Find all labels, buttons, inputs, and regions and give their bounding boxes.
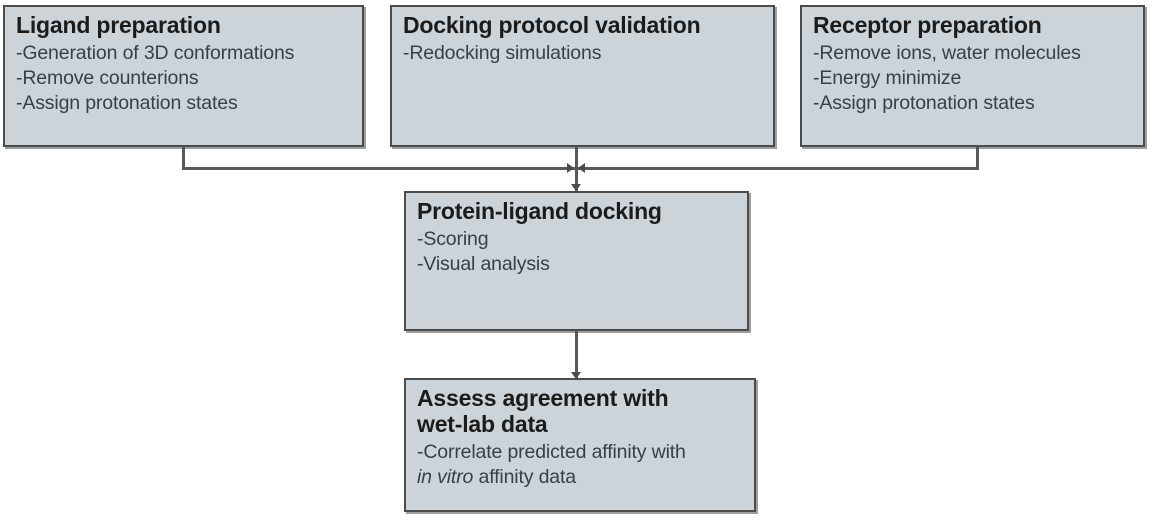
node-bullet: -Correlate predicted affinity with <box>417 440 745 465</box>
node-receptor-preparation[interactable]: Receptor preparation -Remove ions, water… <box>800 5 1145 147</box>
node-title: Receptor preparation <box>813 13 1134 39</box>
italic-term: in vitro <box>417 466 473 488</box>
node-protein-ligand-docking[interactable]: Protein-ligand docking -Scoring -Visual … <box>404 191 749 331</box>
node-bullet: -Assign protonation states <box>813 91 1134 116</box>
node-bullet: -Assign protonation states <box>16 91 353 116</box>
node-bullet: -Remove counterions <box>16 66 353 91</box>
edge-docking-to-assess <box>575 330 578 378</box>
node-title: Ligand preparation <box>16 13 353 39</box>
node-bullet: -Redocking simulations <box>403 41 764 66</box>
italic-line-rest: affinity data <box>473 466 576 488</box>
node-title: Docking protocol validation <box>403 13 764 39</box>
node-bullet: -Remove ions, water molecules <box>813 41 1134 66</box>
node-bullet: -Visual analysis <box>417 252 738 277</box>
node-bullet: -Energy minimize <box>813 66 1134 91</box>
node-title: Protein-ligand docking <box>417 199 738 225</box>
arrow-bus-right-marker <box>567 163 574 173</box>
node-bullet: -Generation of 3D conformations <box>16 41 353 66</box>
arrowhead-into-docking <box>571 184 581 191</box>
node-bullet-italic-line: in vitro affinity data <box>417 465 745 490</box>
arrow-bus-left-marker <box>578 163 585 173</box>
node-assess-agreement[interactable]: Assess agreement with wet-lab data -Corr… <box>404 378 756 512</box>
node-bullet: -Scoring <box>417 227 738 252</box>
node-ligand-preparation[interactable]: Ligand preparation -Generation of 3D con… <box>3 5 364 147</box>
node-docking-protocol-validation[interactable]: Docking protocol validation -Redocking s… <box>390 5 775 147</box>
diagram-canvas: Ligand preparation -Generation of 3D con… <box>0 0 1160 520</box>
node-title: Assess agreement with wet-lab data <box>417 386 745 438</box>
